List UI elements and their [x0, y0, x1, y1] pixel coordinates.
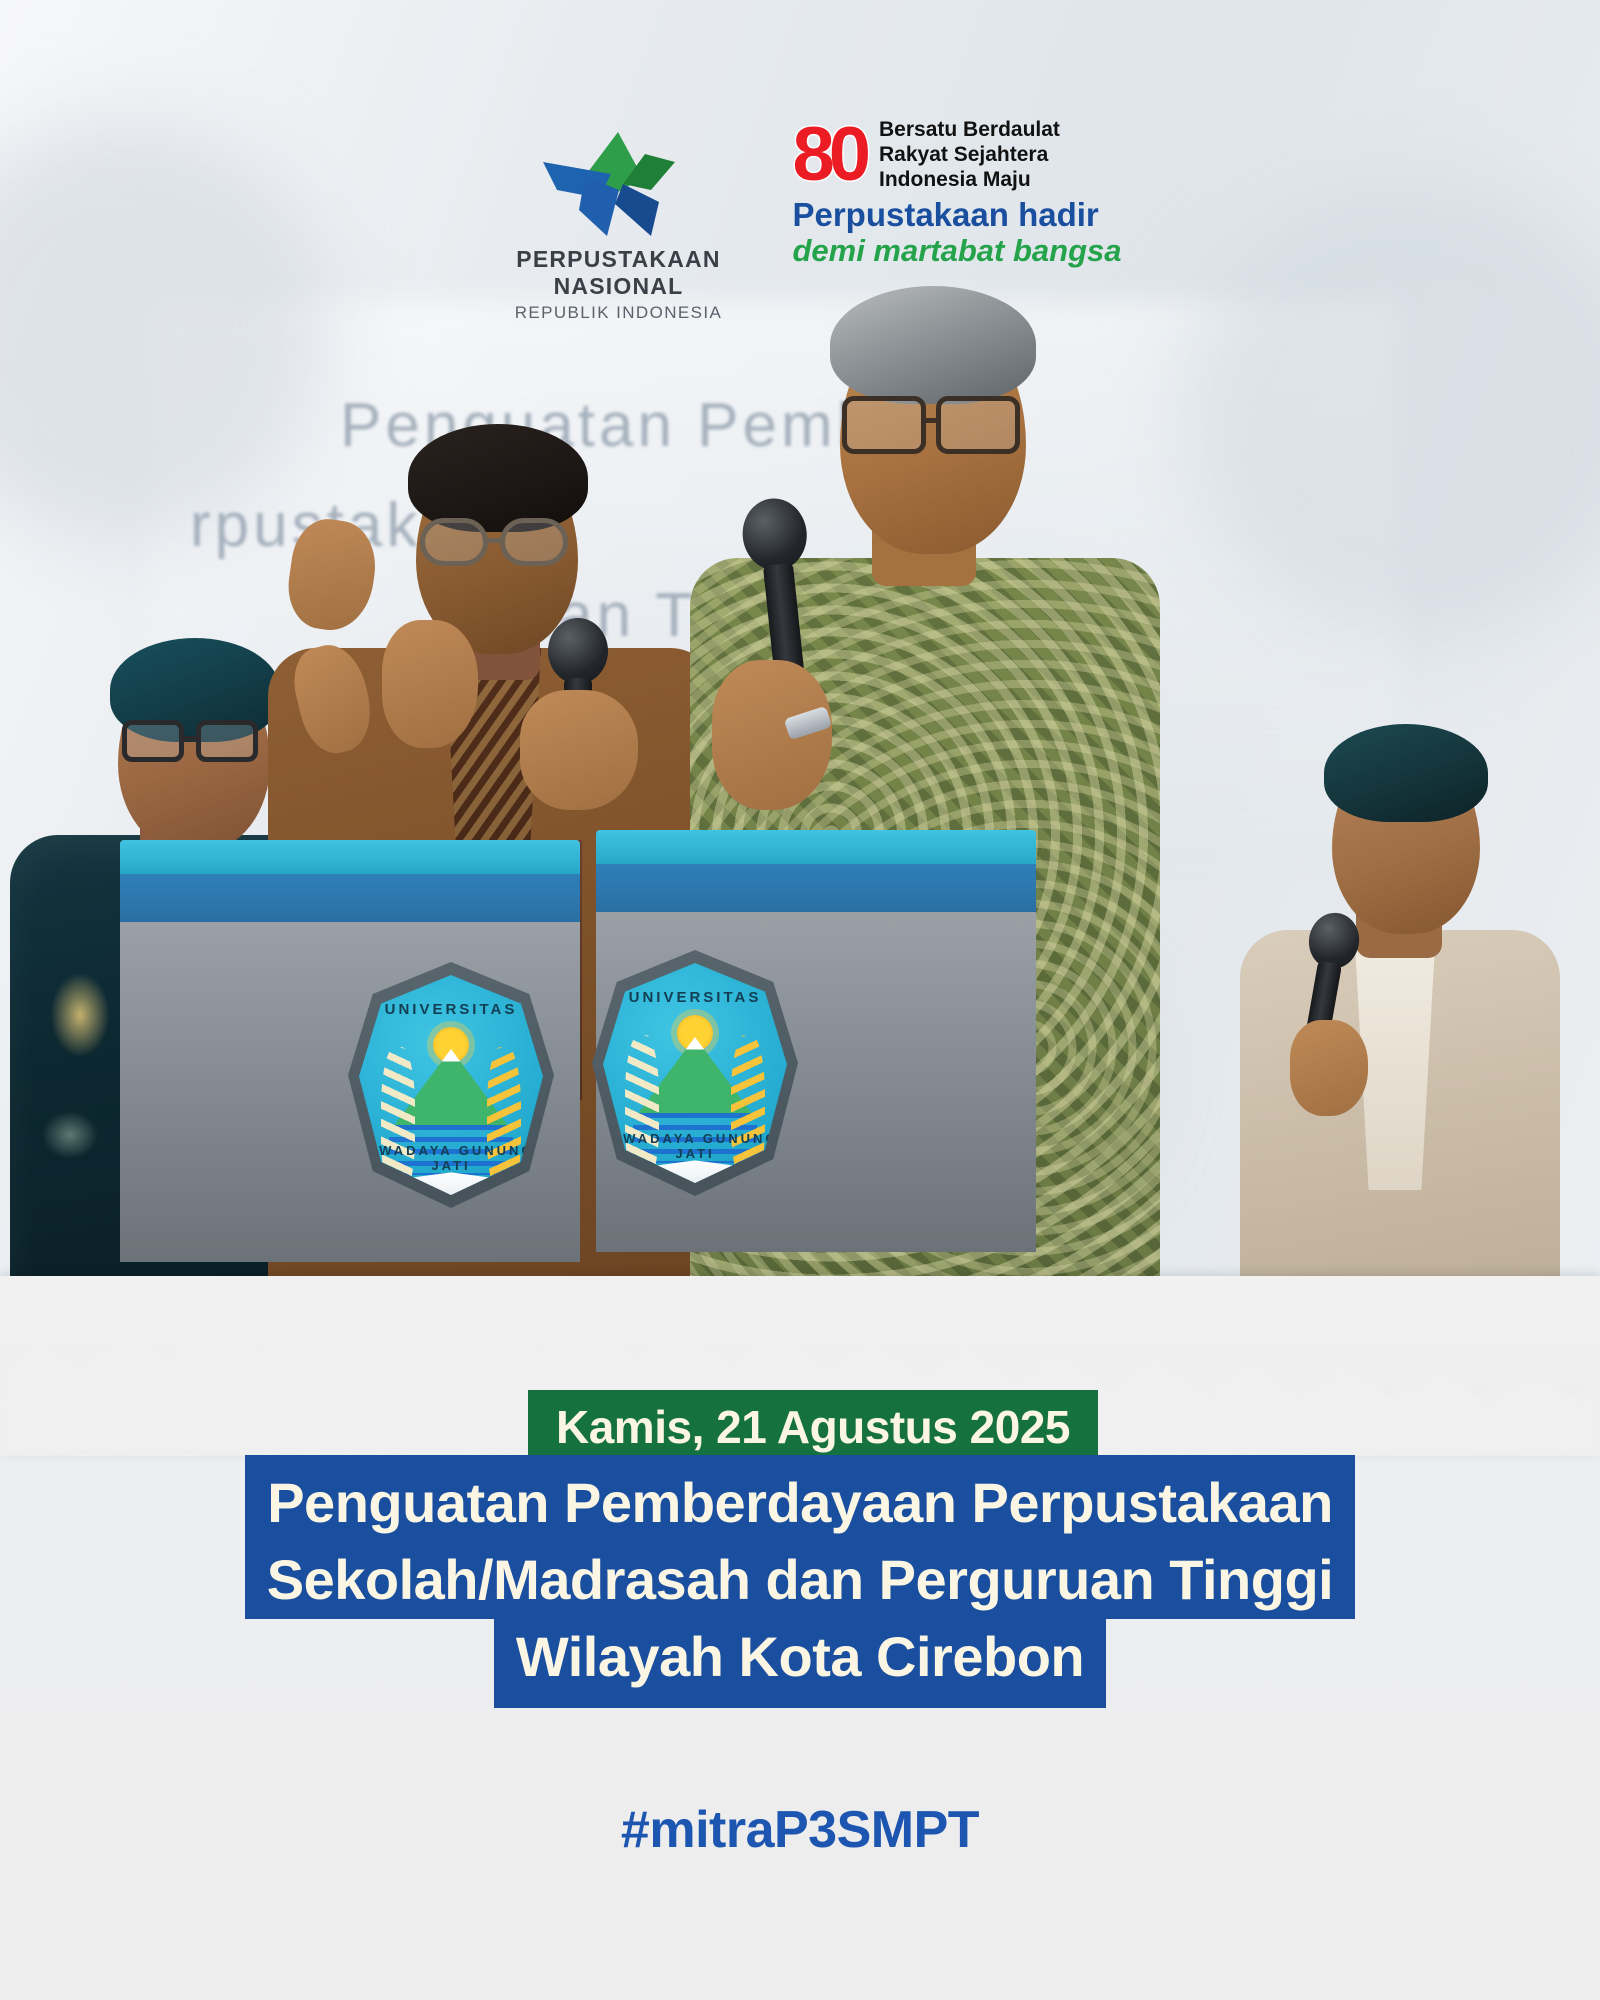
logo-row: PERPUSTAKAAN NASIONAL REPUBLIK INDONESIA… [0, 118, 1600, 298]
podium-top-edge [596, 830, 1036, 864]
glasses-icon [122, 720, 184, 762]
title-line-1: Penguatan Pemberdayaan Perpustakaan [245, 1455, 1355, 1542]
anniversary-motto: Bersatu Berdaulat Rakyat Sejahtera Indon… [879, 118, 1060, 192]
mic-head [548, 618, 608, 684]
event-title-block: Penguatan Pemberdayaan Perpustakaan Seko… [0, 1455, 1600, 1708]
perpusnas-name: PERPUSTAKAAN NASIONAL [478, 246, 758, 300]
tagline-blue: Perpustakaan hadir [792, 198, 1121, 233]
title-line-3: Wilayah Kota Cirebon [494, 1619, 1106, 1708]
hand [382, 620, 478, 748]
podium-band [596, 864, 1036, 912]
star-logo-icon [523, 118, 713, 238]
hair [830, 286, 1036, 404]
emblem-inner-shield: UNIVERSITAS SWADAYA GUNUNG JATI [359, 975, 543, 1195]
hair [1324, 724, 1488, 822]
glasses-bridge [184, 736, 198, 741]
glasses-bridge [924, 418, 940, 423]
glasses-icon [936, 396, 1020, 454]
university-emblem-left: UNIVERSITAS SWADAYA GUNUNG JATI [348, 962, 554, 1208]
hair [408, 424, 588, 532]
glasses-icon [500, 518, 568, 566]
hashtag: #mitraP3SMPT [0, 1800, 1600, 1860]
person-right [1240, 700, 1560, 1340]
glasses-icon [420, 518, 488, 566]
perpusnas-logo: PERPUSTAKAAN NASIONAL REPUBLIK INDONESIA [478, 118, 758, 323]
event-poster: Penguatan Pember rpustaka ruan Ting usta… [0, 0, 1600, 2000]
emblem-inner-shield: UNIVERSITAS SWADAYA GUNUNG JATI [603, 963, 787, 1183]
motto-line-3: Indonesia Maju [879, 168, 1060, 193]
podium-band [120, 874, 580, 922]
emblem-top-text: UNIVERSITAS [359, 1001, 543, 1018]
emblem-top-text: UNIVERSITAS [603, 989, 787, 1006]
university-emblem-right: UNIVERSITAS SWADAYA GUNUNG JATI [592, 950, 798, 1196]
glasses-icon [196, 720, 258, 762]
perpusnas-subtitle: REPUBLIK INDONESIA [478, 303, 758, 323]
motto-line-1: Bersatu Berdaulat [879, 118, 1060, 143]
title-line-2: Sekolah/Madrasah dan Perguruan Tinggi [245, 1542, 1355, 1619]
tagline-green: demi martabat bangsa [792, 235, 1121, 268]
glasses-bridge [488, 538, 502, 543]
anniversary-number-text: 80 [792, 112, 865, 197]
hand [520, 690, 638, 810]
hand [1290, 1020, 1368, 1116]
anniversary-number: 80 [792, 123, 865, 187]
glasses-icon [842, 396, 926, 454]
hand [712, 660, 832, 810]
mic-head [739, 495, 810, 573]
podium-top-edge [120, 840, 580, 874]
motto-line-2: Rakyat Sejahtera [879, 143, 1060, 168]
anniversary-logo: 80 Bersatu Berdaulat Rakyat Sejahtera In… [792, 118, 1121, 267]
